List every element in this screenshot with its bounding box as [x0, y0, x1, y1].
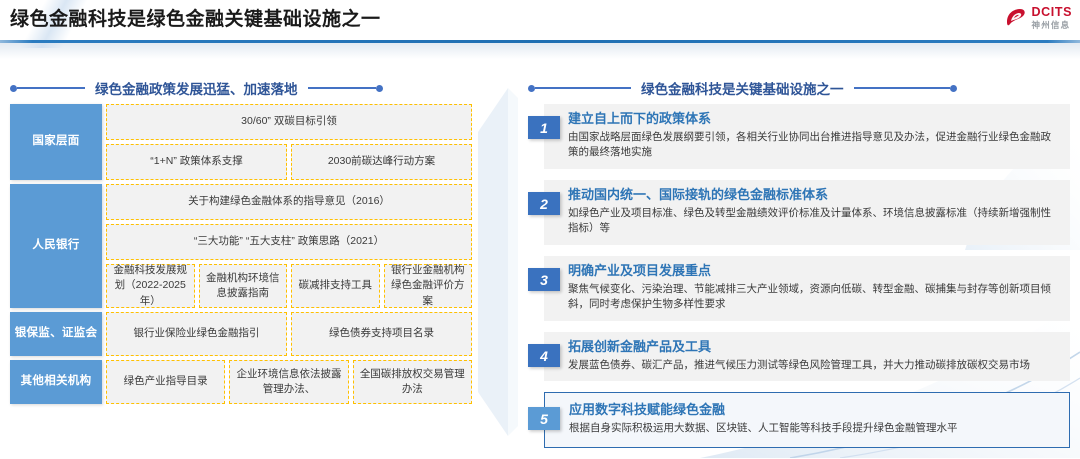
row-body-pboc: 关于构建绿色金融体系的指导意见（2016） “三大功能” “五大支柱” 政策思路… [106, 184, 472, 308]
list-item[interactable]: 4 拓展创新金融产品及工具 发展蓝色债券、碳汇产品，推进气候压力测试等绿色风险管… [528, 332, 1070, 381]
row-body-national: 30/60” 双碳目标引领 “1+N” 政策体系支撑 2030前碳达峰行动方案 [106, 104, 472, 180]
key-infrastructure-list: 1 建立自上而下的政策体系 由国家战略层面绿色发展纲要引领，各相关行业协同出台推… [528, 104, 1070, 459]
title-divider [0, 40, 1080, 43]
dcits-logo: DCITS 神州信息 [1005, 6, 1073, 29]
logo-english-text: DCITS [1032, 6, 1073, 19]
row-body-other-agencies: 绿色产业指导目录 企业环境信息依法披露管理办法、 全国碳排放权交易管理办法 [106, 360, 472, 404]
item-number-badge: 4 [528, 344, 560, 367]
item-panel: 明确产业及项目发展重点 聚焦气候变化、污染治理、节能减排三大产业领域，资源向低碳… [544, 256, 1070, 321]
row-label-national: 国家层面 [10, 104, 102, 180]
policy-cell[interactable]: 绿色产业指导目录 [106, 360, 225, 404]
row-body-cbirc-csrc: 银行业保险业绿色金融指引 绿色债券支持项目名录 [106, 312, 472, 356]
list-item[interactable]: 3 明确产业及项目发展重点 聚焦气候变化、污染治理、节能减排三大产业领域，资源向… [528, 256, 1070, 321]
cell-band: 关于构建绿色金融体系的指导意见（2016） [106, 184, 472, 220]
cell-band: 银行业保险业绿色金融指引 绿色债券支持项目名录 [106, 312, 472, 356]
right-section-title: 绿色金融科技是关键基础设施之一 [631, 78, 854, 98]
policy-cell[interactable]: 2030前碳达峰行动方案 [291, 144, 472, 180]
item-description: 如绿色产业及项目标准、绿色及转型金融绩效评价标准及计量体系、环境信息披露标准（持… [568, 206, 1060, 238]
policy-cell[interactable]: 金融机构环境信息披露指南 [199, 264, 288, 308]
policy-cell[interactable]: “1+N” 政策体系支撑 [106, 144, 287, 180]
left-section-header: 绿色金融政策发展迅猛、加速落地 [10, 78, 472, 98]
left-header-dot-end [376, 85, 383, 92]
left-header-dot-start [10, 85, 17, 92]
item-title: 应用数字科技赋能绿色金融 [569, 401, 1059, 419]
table-row: 人民银行 关于构建绿色金融体系的指导意见（2016） “三大功能” “五大支柱”… [10, 184, 472, 308]
policy-cell[interactable]: “三大功能” “五大支柱” 政策思路（2021） [106, 224, 472, 260]
item-number-badge: 1 [528, 116, 560, 139]
item-description: 由国家战略层面绿色发展纲要引领，各相关行业协同出台推进指导意见及办法，促进金融行… [568, 130, 1060, 162]
row-label-pboc: 人民银行 [10, 184, 102, 308]
item-panel: 建立自上而下的政策体系 由国家战略层面绿色发展纲要引领，各相关行业协同出台推进指… [544, 104, 1070, 169]
left-section-title: 绿色金融政策发展迅猛、加速落地 [85, 78, 308, 98]
item-panel: 应用数字科技赋能绿色金融 根据自身实际积极运用大数据、区块链、人工智能等科技手段… [544, 392, 1070, 447]
row-label-other-agencies: 其他相关机构 [10, 360, 102, 404]
right-header-dot-start [528, 85, 535, 92]
policy-cell[interactable]: 碳减排支持工具 [291, 264, 380, 308]
item-number-badge: 5 [528, 407, 560, 430]
policy-table: 国家层面 30/60” 双碳目标引领 “1+N” 政策体系支撑 2030前碳达峰… [10, 104, 472, 404]
item-panel: 推动国内统一、国际接轨的绿色金融标准体系 如绿色产业及项目标准、绿色及转型金融绩… [544, 180, 1070, 245]
cell-band: “三大功能” “五大支柱” 政策思路（2021） [106, 224, 472, 260]
policy-cell[interactable]: 关于构建绿色金融体系的指导意见（2016） [106, 184, 472, 220]
cell-band: 绿色产业指导目录 企业环境信息依法披露管理办法、 全国碳排放权交易管理办法 [106, 360, 472, 404]
list-item-highlighted[interactable]: 5 应用数字科技赋能绿色金融 根据自身实际积极运用大数据、区块链、人工智能等科技… [528, 392, 1070, 447]
policy-cell[interactable]: 绿色债券支持项目名录 [291, 312, 472, 356]
policy-cell[interactable]: 全国碳排放权交易管理办法 [353, 360, 472, 404]
cell-band: “1+N” 政策体系支撑 2030前碳达峰行动方案 [106, 144, 472, 180]
list-item[interactable]: 1 建立自上而下的政策体系 由国家战略层面绿色发展纲要引领，各相关行业协同出台推… [528, 104, 1070, 169]
right-header-line-start [535, 87, 631, 89]
title-divider-shadow [0, 43, 1080, 59]
row-label-cbirc-csrc: 银保监、证监会 [10, 312, 102, 356]
item-description: 根据自身实际积极运用大数据、区块链、人工智能等科技手段提升绿色金融管理水平 [569, 421, 1059, 437]
item-description: 聚焦气候变化、污染治理、节能减排三大产业领域，资源向低碳、转型金融、碳捕集与封存… [568, 282, 1060, 314]
page-title: 绿色金融科技是绿色金融关键基础设施之一 [10, 4, 381, 31]
item-number-badge: 2 [528, 192, 560, 215]
table-row: 国家层面 30/60” 双碳目标引领 “1+N” 政策体系支撑 2030前碳达峰… [10, 104, 472, 180]
right-header-dot-end [950, 85, 957, 92]
table-row: 银保监、证监会 银行业保险业绿色金融指引 绿色债券支持项目名录 [10, 312, 472, 356]
right-section-header: 绿色金融科技是关键基础设施之一 [528, 78, 1070, 98]
item-number-badge: 3 [528, 268, 560, 291]
item-title: 拓展创新金融产品及工具 [568, 338, 1060, 356]
left-header-line-end [308, 87, 376, 89]
dcits-logo-mark [1005, 8, 1027, 28]
policy-cell[interactable]: 金融科技发展规划（2022-2025年） [106, 264, 195, 308]
middle-divider-decoration [478, 88, 518, 436]
policy-cell[interactable]: 企业环境信息依法披露管理办法、 [229, 360, 348, 404]
table-row: 其他相关机构 绿色产业指导目录 企业环境信息依法披露管理办法、 全国碳排放权交易… [10, 360, 472, 404]
cell-band: 金融科技发展规划（2022-2025年） 金融机构环境信息披露指南 碳减排支持工… [106, 264, 472, 308]
item-description: 发展蓝色债券、碳汇产品，推进气候压力测试等绿色风险管理工具，并大力推动碳排放碳权… [568, 358, 1060, 374]
list-item[interactable]: 2 推动国内统一、国际接轨的绿色金融标准体系 如绿色产业及项目标准、绿色及转型金… [528, 180, 1070, 245]
cell-band: 30/60” 双碳目标引领 [106, 104, 472, 140]
policy-cell[interactable]: 30/60” 双碳目标引领 [106, 104, 472, 140]
item-title: 明确产业及项目发展重点 [568, 262, 1060, 280]
policy-cell[interactable]: 银行业保险业绿色金融指引 [106, 312, 287, 356]
left-header-line-start [17, 87, 85, 89]
right-header-line-end [854, 87, 950, 89]
item-title: 建立自上而下的政策体系 [568, 110, 1060, 128]
item-title: 推动国内统一、国际接轨的绿色金融标准体系 [568, 186, 1060, 204]
item-panel: 拓展创新金融产品及工具 发展蓝色债券、碳汇产品，推进气候压力测试等绿色风险管理工… [544, 332, 1070, 381]
logo-chinese-text: 神州信息 [1032, 21, 1073, 30]
policy-cell[interactable]: 银行业金融机构绿色金融评价方案 [384, 264, 473, 308]
